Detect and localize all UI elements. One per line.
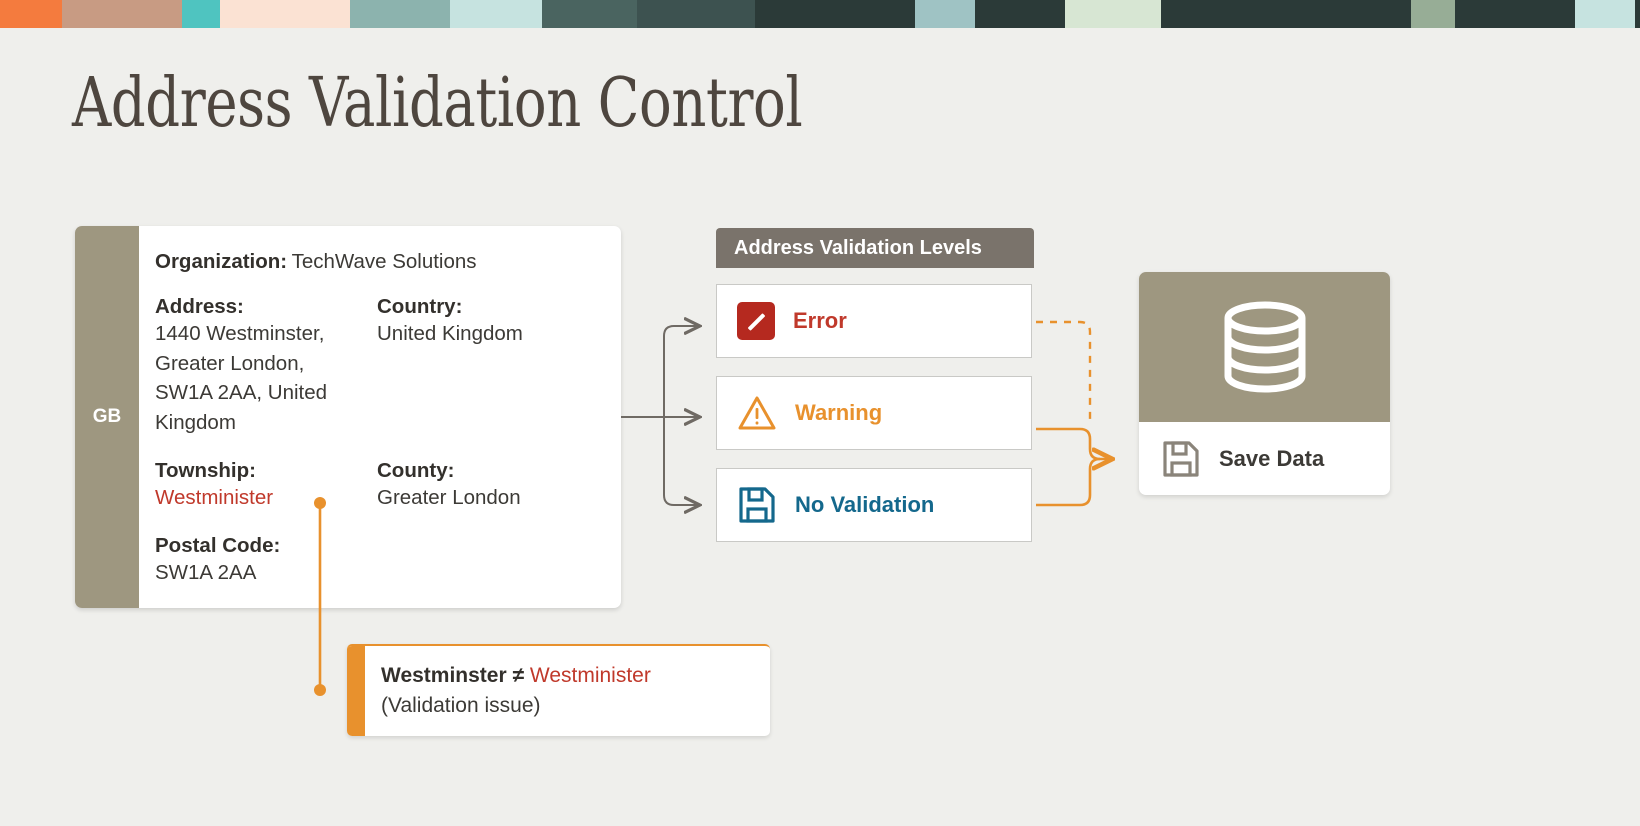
save-data-panel-footer: Save Data <box>1139 422 1390 495</box>
banner-block-10 <box>975 0 1065 28</box>
callout-body: Westminster ≠ Westminister (Validation i… <box>365 646 651 736</box>
banner-block-8 <box>755 0 915 28</box>
township-county-row: Township: Westminister County: Greater L… <box>155 459 599 513</box>
warning-triangle-icon <box>737 394 777 432</box>
banner-block-12 <box>1161 0 1411 28</box>
township-column: Township: Westminister <box>155 459 377 513</box>
callout-comparison-line: Westminster ≠ Westminister <box>381 661 651 691</box>
address-card-body: Organization: TechWave Solutions Address… <box>139 226 621 608</box>
banner-block-5 <box>450 0 542 28</box>
township-value: Westminister <box>155 483 377 513</box>
township-label: Township: <box>155 459 377 483</box>
banner-block-11 <box>1065 0 1161 28</box>
banner-block-1 <box>62 0 182 28</box>
validation-level-no-validation-label: No Validation <box>795 492 934 518</box>
validation-level-error-label: Error <box>793 308 847 334</box>
banner-block-4 <box>350 0 450 28</box>
error-slash-icon <box>737 302 775 340</box>
county-value: Greater London <box>377 483 599 513</box>
validation-levels-header: Address Validation Levels <box>716 228 1034 268</box>
address-card: GB Organization: TechWave Solutions Addr… <box>75 226 621 608</box>
callout-accent-bar <box>347 646 365 736</box>
address-country-row: Address: 1440 Westminster, Greater Londo… <box>155 295 599 438</box>
validation-level-warning[interactable]: Warning <box>716 376 1032 450</box>
page-title: Address Validation Control <box>72 68 802 139</box>
country-column: Country: United Kingdom <box>377 295 599 438</box>
banner-block-15 <box>1575 0 1635 28</box>
address-column: Address: 1440 Westminster, Greater Londo… <box>155 295 377 438</box>
connector-to-no-validation <box>664 417 698 505</box>
organization-row: Organization: TechWave Solutions <box>155 250 599 274</box>
decorative-banner <box>0 0 1640 28</box>
organization-label: Organization: <box>155 250 287 273</box>
connector-to-error <box>664 326 698 417</box>
banner-block-16 <box>1635 0 1640 28</box>
banner-block-3 <box>220 0 350 28</box>
connector-error-to-save <box>1036 322 1090 424</box>
address-line-3: SW1A 2AA, United <box>155 378 377 408</box>
connector-no-validation-to-save <box>1036 459 1100 505</box>
banner-block-14 <box>1455 0 1575 28</box>
county-column: County: Greater London <box>377 459 599 513</box>
database-cylinder-icon <box>1220 301 1310 393</box>
callout-note: (Validation issue) <box>381 691 651 721</box>
county-label: County: <box>377 459 599 483</box>
postal-code-row: Postal Code: SW1A 2AA <box>155 534 599 588</box>
validation-level-no-validation[interactable]: No Validation <box>716 468 1032 542</box>
connector-warning-to-save <box>1036 429 1110 459</box>
banner-block-6 <box>542 0 637 28</box>
floppy-disk-icon <box>737 485 777 525</box>
country-code-strip: GB <box>75 226 139 608</box>
validation-level-warning-label: Warning <box>795 400 882 426</box>
country-value: United Kingdom <box>377 319 599 349</box>
floppy-disk-icon <box>1161 439 1201 479</box>
not-equal-icon: ≠ <box>513 664 525 687</box>
save-data-panel-header <box>1139 272 1390 422</box>
banner-block-13 <box>1411 0 1455 28</box>
callout-actual-value: Westminister <box>530 664 651 687</box>
address-label: Address: <box>155 295 377 319</box>
callout-expected-value: Westminster <box>381 664 507 687</box>
country-code-label: GB <box>93 406 122 428</box>
banner-block-7 <box>637 0 755 28</box>
address-line-1: 1440 Westminster, <box>155 319 377 349</box>
banner-block-2 <box>182 0 220 28</box>
save-data-label: Save Data <box>1219 446 1324 472</box>
address-line-2: Greater London, <box>155 349 377 379</box>
country-label: Country: <box>377 295 599 319</box>
address-line-4: Kingdom <box>155 408 377 438</box>
organization-value: TechWave Solutions <box>292 250 477 273</box>
save-data-panel[interactable]: Save Data <box>1139 272 1390 495</box>
banner-block-0 <box>0 0 62 28</box>
validation-issue-callout: Westminster ≠ Westminister (Validation i… <box>347 644 770 736</box>
banner-block-9 <box>915 0 975 28</box>
leader-dot-bottom <box>314 684 326 696</box>
postal-code-label: Postal Code: <box>155 534 599 558</box>
postal-code-value: SW1A 2AA <box>155 558 599 588</box>
validation-level-error[interactable]: Error <box>716 284 1032 358</box>
